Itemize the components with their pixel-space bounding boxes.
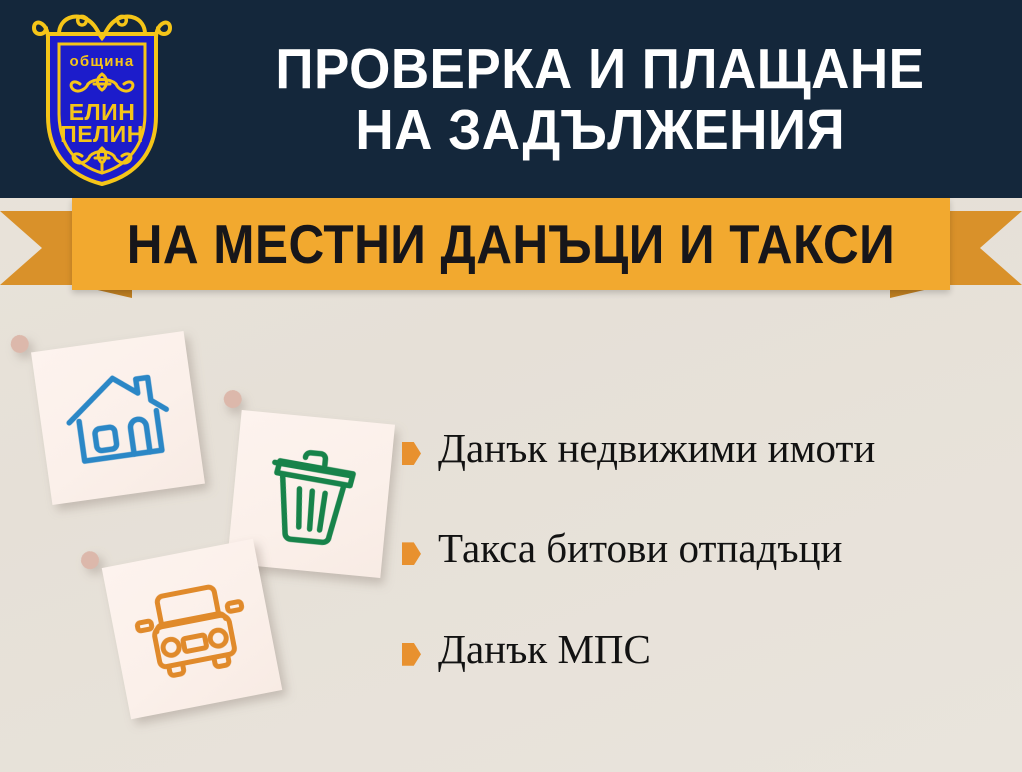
arrow-pentagon-bullet-icon xyxy=(402,643,421,666)
stamp-card-car xyxy=(79,516,304,741)
list-item-label: Данък МПС xyxy=(438,625,651,673)
list-item[interactable]: Данък недвижими имоти xyxy=(402,424,1017,472)
coat-of-arms-shield-icon: община ЕЛИН ПЕЛИН xyxy=(26,4,178,190)
house-icon xyxy=(57,361,180,475)
header-bar: община ЕЛИН ПЕЛИН xyxy=(0,0,1022,198)
arrow-pentagon-bullet-icon xyxy=(402,542,421,565)
arrow-pentagon-bullet-icon xyxy=(402,442,421,465)
stamp-paper xyxy=(31,331,205,505)
ribbon-main-panel: НА МЕСТНИ ДАНЪЦИ И ТАКСИ xyxy=(72,198,950,290)
trash-bin-icon xyxy=(258,438,364,551)
title-line-2: НА ЗАДЪЛЖЕНИЯ xyxy=(355,102,845,160)
ribbon-label: НА МЕСТНИ ДАНЪЦИ И ТАКСИ xyxy=(127,217,896,272)
stamp-paper xyxy=(102,539,283,720)
ribbon-banner: НА МЕСТНИ ДАНЪЦИ И ТАКСИ xyxy=(0,198,1022,298)
list-item-label: Такса битови отпадъци xyxy=(438,524,842,572)
tax-type-list: Данък недвижими имоти Такса битови отпад… xyxy=(402,424,1017,673)
list-item-label: Данък недвижими имоти xyxy=(438,424,875,472)
stamp-card-house xyxy=(10,310,227,527)
list-item[interactable]: Данък МПС xyxy=(402,625,1017,673)
banner-canvas: община ЕЛИН ПЕЛИН xyxy=(0,0,1022,772)
list-item[interactable]: Такса битови отпадъци xyxy=(402,524,1017,572)
svg-text:ПЕЛИН: ПЕЛИН xyxy=(60,121,144,147)
page-title: ПРОВЕРКА И ПЛАЩАНЕ НА ЗАДЪЛЖЕНИЯ xyxy=(190,18,1010,183)
car-front-icon xyxy=(127,571,257,687)
title-line-1: ПРОВЕРКА И ПЛАЩАНЕ xyxy=(275,41,924,99)
svg-text:община: община xyxy=(70,53,135,70)
